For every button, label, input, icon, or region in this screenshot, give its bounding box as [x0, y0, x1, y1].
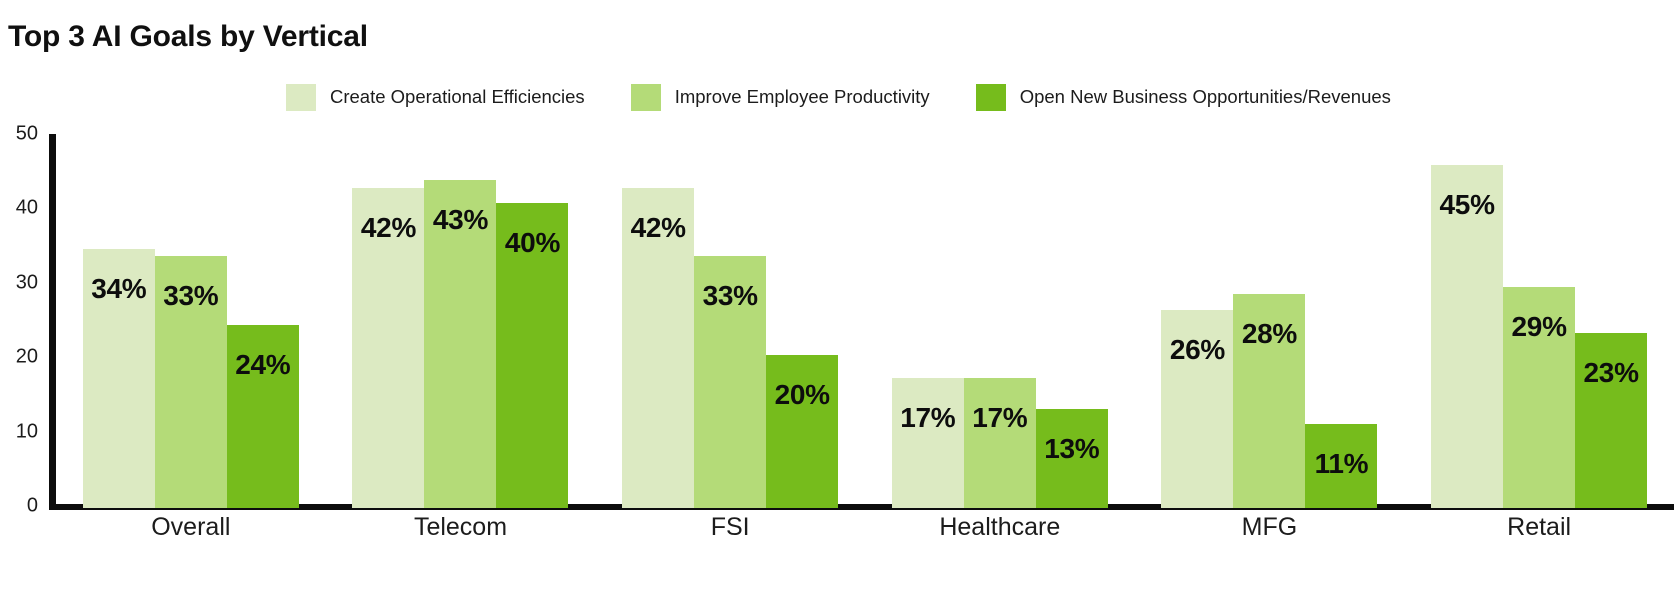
chart-legend: Create Operational EfficienciesImprove E… — [286, 82, 1391, 112]
legend-label: Improve Employee Productivity — [675, 88, 930, 107]
plot-area: 50403020100 34%33%24%42%43%40%42%33%20%1… — [0, 128, 1680, 514]
y-axis-tick-label: 30 — [16, 271, 38, 294]
bar-value-label: 20% — [775, 381, 830, 409]
legend-item[interactable]: Improve Employee Productivity — [631, 82, 930, 112]
bar[interactable]: 26% — [1161, 310, 1233, 508]
bar[interactable]: 20% — [766, 355, 838, 508]
legend-swatch-icon — [631, 84, 661, 111]
bar-value-label: 13% — [1044, 435, 1099, 463]
x-axis-tick-label: Healthcare — [865, 514, 1135, 542]
bar-value-label: 42% — [361, 214, 416, 242]
x-axis-tick-label: Retail — [1404, 514, 1674, 542]
bar[interactable]: 11% — [1305, 424, 1377, 508]
legend-label: Open New Business Opportunities/Revenues — [1020, 88, 1391, 107]
x-axis-labels: OverallTelecomFSIHealthcareMFGRetail — [56, 514, 1674, 564]
bar-group: 26%28%11% — [1135, 128, 1405, 508]
bar-value-label: 29% — [1512, 313, 1567, 341]
bar-group-bars: 42%33%20% — [622, 128, 838, 508]
legend-swatch-icon — [976, 84, 1006, 111]
bar[interactable]: 23% — [1575, 333, 1647, 508]
bar-group-bars: 17%17%13% — [892, 128, 1108, 508]
bar-group: 42%43%40% — [326, 128, 596, 508]
bar[interactable]: 43% — [424, 180, 496, 508]
y-axis-ticks: 50403020100 — [0, 128, 44, 514]
y-axis-tick-label: 20 — [16, 346, 38, 369]
page-title: Top 3 AI Goals by Vertical — [8, 20, 368, 54]
y-axis-tick-label: 50 — [16, 123, 38, 146]
bar-value-label: 40% — [505, 229, 560, 257]
bar-value-label: 42% — [631, 214, 686, 242]
bar[interactable]: 34% — [83, 249, 155, 508]
bar[interactable]: 13% — [1036, 409, 1108, 508]
legend-item[interactable]: Open New Business Opportunities/Revenues — [976, 82, 1391, 112]
x-axis-tick-label: MFG — [1135, 514, 1405, 542]
bar-group: 42%33%20% — [595, 128, 865, 508]
bar[interactable]: 42% — [622, 188, 694, 508]
bar-group: 17%17%13% — [865, 128, 1135, 508]
bar[interactable]: 42% — [352, 188, 424, 508]
x-axis-tick-label: Overall — [56, 514, 326, 542]
bar-groups: 34%33%24%42%43%40%42%33%20%17%17%13%26%2… — [56, 128, 1674, 508]
bar[interactable]: 45% — [1431, 165, 1503, 508]
bar-value-label: 17% — [972, 404, 1027, 432]
bar-value-label: 45% — [1440, 191, 1495, 219]
y-axis-line — [49, 134, 56, 509]
bar-group-bars: 34%33%24% — [83, 128, 299, 508]
y-axis-tick-label: 40 — [16, 197, 38, 220]
bar-group: 34%33%24% — [56, 128, 326, 508]
bar[interactable]: 33% — [155, 256, 227, 508]
x-axis-tick-label: FSI — [595, 514, 865, 542]
x-axis-tick-label: Telecom — [326, 514, 596, 542]
bar-value-label: 43% — [433, 206, 488, 234]
bar-group: 45%29%23% — [1404, 128, 1674, 508]
bar-group-bars: 45%29%23% — [1431, 128, 1647, 508]
bar[interactable]: 24% — [227, 325, 299, 508]
legend-item[interactable]: Create Operational Efficiencies — [286, 82, 585, 112]
bar-value-label: 24% — [235, 351, 290, 379]
legend-label: Create Operational Efficiencies — [330, 88, 585, 107]
bar-value-label: 33% — [703, 282, 758, 310]
bar[interactable]: 29% — [1503, 287, 1575, 508]
bar-group-bars: 26%28%11% — [1161, 128, 1377, 508]
bar-value-label: 26% — [1170, 336, 1225, 364]
y-axis-tick-label: 0 — [27, 495, 38, 518]
legend-swatch-icon — [286, 84, 316, 111]
bar-value-label: 28% — [1242, 320, 1297, 348]
bar-value-label: 11% — [1315, 450, 1369, 478]
chart-figure: Top 3 AI Goals by Vertical Create Operat… — [0, 0, 1680, 590]
bar[interactable]: 17% — [964, 378, 1036, 508]
bar[interactable]: 28% — [1233, 294, 1305, 508]
y-axis-tick-label: 10 — [16, 420, 38, 443]
bar-value-label: 23% — [1584, 359, 1639, 387]
bar-value-label: 34% — [91, 275, 146, 303]
bar[interactable]: 40% — [496, 203, 568, 508]
bar[interactable]: 17% — [892, 378, 964, 508]
bar[interactable]: 33% — [694, 256, 766, 508]
bar-value-label: 33% — [163, 282, 218, 310]
bar-group-bars: 42%43%40% — [352, 128, 568, 508]
bar-value-label: 17% — [900, 404, 955, 432]
